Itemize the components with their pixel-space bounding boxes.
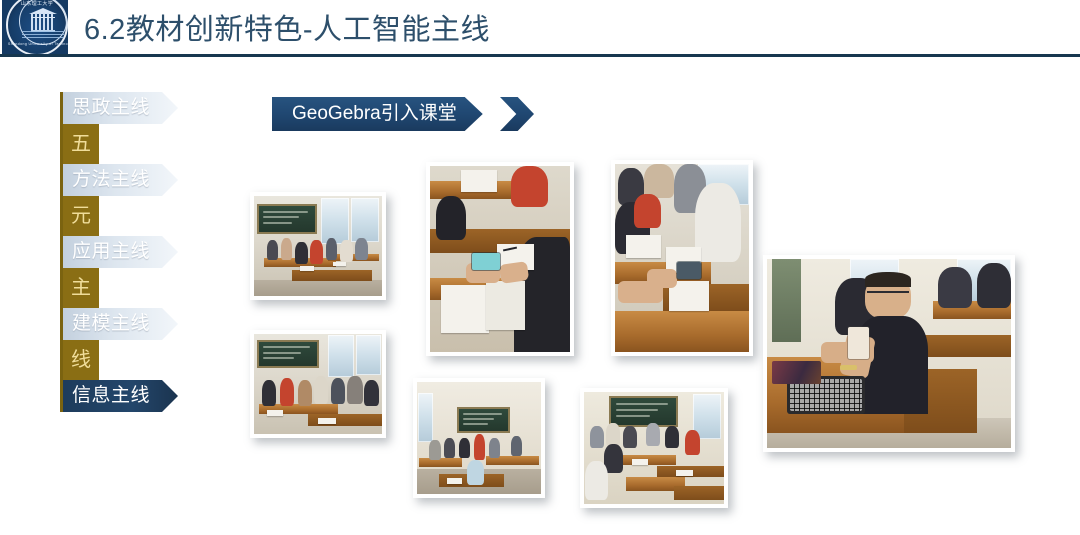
axis-block-3: 线 xyxy=(63,340,99,380)
collage-photo-classroom-wide[interactable] xyxy=(250,192,386,300)
photo-image xyxy=(615,164,749,352)
sidebar-item-xinxi[interactable]: 信息主线 xyxy=(63,380,178,412)
chevron-right-icon xyxy=(500,97,534,131)
section-banner-label: GeoGebra引入课堂 xyxy=(272,97,483,131)
photo-image xyxy=(430,166,570,352)
collage-photo-classroom-groupwork[interactable] xyxy=(580,388,728,508)
collage-photo-classroom-teacher[interactable] xyxy=(413,378,545,498)
seal-arc-top-text: 山东理工大学 xyxy=(8,0,66,7)
header-divider xyxy=(0,54,1080,57)
axis-block-2: 主 xyxy=(63,268,99,308)
photo-image xyxy=(254,334,382,434)
collage-photo-students-phones[interactable] xyxy=(611,160,753,356)
photo-image xyxy=(417,382,541,494)
collage-photo-student-glasses-keyboard[interactable] xyxy=(763,255,1015,452)
sidebar-item-jianmo[interactable]: 建模主线 xyxy=(63,308,178,340)
axis-block-0: 五 xyxy=(63,124,99,164)
photo-image xyxy=(254,196,382,296)
sidebar-item-fangfa[interactable]: 方法主线 xyxy=(63,164,178,196)
five-thread-sidebar: 五 元 主 线 思政主线 方法主线 应用主线 建模主线 信息主线 xyxy=(60,92,200,412)
photo-image xyxy=(767,259,1011,448)
seal-building-icon xyxy=(31,13,55,32)
seal-arc-bottom-text: Shandong University of Technology xyxy=(8,42,66,46)
seal-water-icon xyxy=(22,31,64,40)
university-logo: 山东理工大学 Shandong University of Technology xyxy=(2,0,68,56)
page-title: 6.2教材创新特色-人工智能主线 xyxy=(84,6,490,48)
collage-photo-classroom-students[interactable] xyxy=(250,330,386,438)
photo-image xyxy=(584,392,724,504)
sidebar-item-sizheng[interactable]: 思政主线 xyxy=(63,92,178,124)
slide-header: 山东理工大学 Shandong University of Technology… xyxy=(0,0,1080,56)
seal-outer-ring: 山东理工大学 Shandong University of Technology xyxy=(6,0,68,56)
sidebar-item-yingyong[interactable]: 应用主线 xyxy=(63,236,178,268)
collage-photo-student-phone-desk[interactable] xyxy=(426,162,574,356)
axis-block-1: 元 xyxy=(63,196,99,236)
